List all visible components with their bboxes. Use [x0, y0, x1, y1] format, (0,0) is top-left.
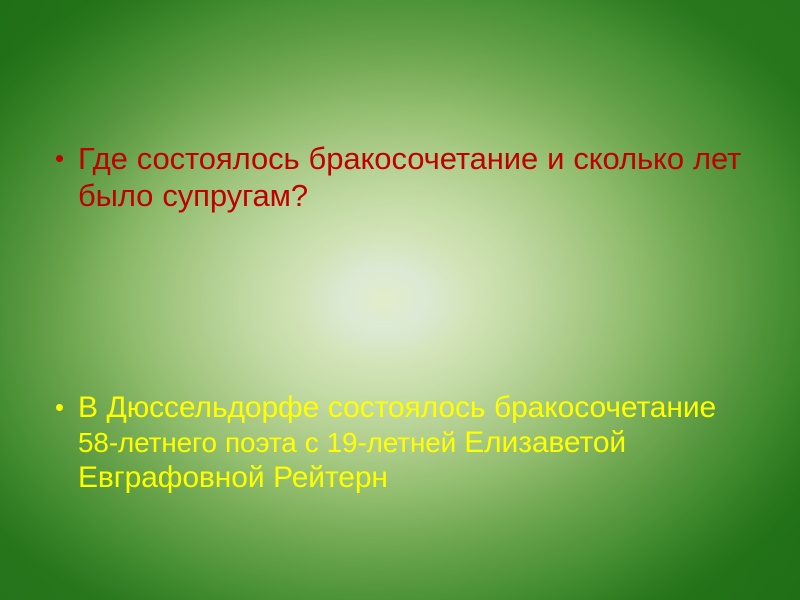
slide-canvas: Где состоялось бракосочетание и сколько … [0, 0, 800, 600]
bullet-paragraph-question: Где состоялось бракосочетание и сколько … [56, 140, 746, 214]
question-text: Где состоялось бракосочетание и сколько … [56, 140, 746, 214]
answer-text: В Дюссельдорфе состоялось бракосочетание… [56, 390, 746, 495]
answer-text-ages: 58-летнего поэта с 19-летней [78, 427, 464, 458]
bullet-point-icon [56, 404, 63, 411]
answer-text-lead: В Дюссельдорфе состоялось бракосочетание [78, 391, 716, 424]
bullet-paragraph-answer: В Дюссельдорфе состоялось бракосочетание… [56, 390, 746, 495]
slide-content-placeholder: Где состоялось бракосочетание и сколько … [56, 0, 756, 600]
bullet-point-icon [56, 155, 63, 162]
